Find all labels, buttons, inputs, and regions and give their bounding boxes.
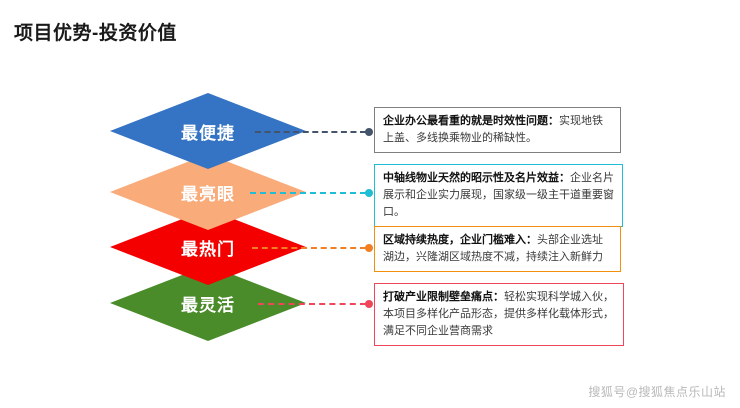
slide-canvas: 项目优势-投资价值 最便捷 最亮眼 最热门 最灵活	[0, 0, 740, 408]
connector-dash-4	[258, 303, 366, 305]
callout-flexibility[interactable]: 打破产业限制壁垒痛点：轻松实现科学城入伙，本项目多样化产品形态，提供多样化载体形…	[374, 283, 624, 346]
connector-line-4	[258, 299, 373, 309]
connector-dot-2	[365, 189, 373, 197]
connector-line-2	[250, 188, 373, 198]
callout-convenience[interactable]: 企业办公最看重的就是时效性问题：实现地铁上盖、多线换乘物业的稀缺性。	[374, 107, 621, 153]
watermark: 搜狐号@搜狐焦点乐山站	[588, 383, 726, 400]
callout-lead-4: 打破产业限制壁垒痛点：	[383, 291, 504, 303]
connector-dash-1	[255, 131, 366, 133]
connector-line-3	[252, 243, 373, 253]
connector-dot-3	[365, 244, 373, 252]
connector-dot-1	[365, 128, 373, 136]
diamond-stack: 最便捷 最亮眼 最热门 最灵活	[0, 0, 380, 408]
callout-lead-1: 企业办公最看重的就是时效性问题：	[383, 115, 559, 127]
connector-dash-3	[252, 247, 366, 249]
connector-dot-4	[365, 300, 373, 308]
callout-visibility[interactable]: 中轴线物业天然的昭示性及名片效益：企业名片展示和企业实力展现，国家级一级主干道重…	[374, 164, 623, 227]
connector-dash-2	[250, 192, 366, 194]
callout-popularity[interactable]: 区域持续热度，企业门槛难入：头部企业选址湖边，兴隆湖区域热度不减，持续注入新鲜力	[374, 226, 621, 272]
callout-lead-3: 区域持续热度，企业门槛难入：	[383, 234, 537, 246]
connector-line-1	[255, 127, 373, 137]
callout-lead-2: 中轴线物业天然的昭示性及名片效益：	[383, 172, 570, 184]
